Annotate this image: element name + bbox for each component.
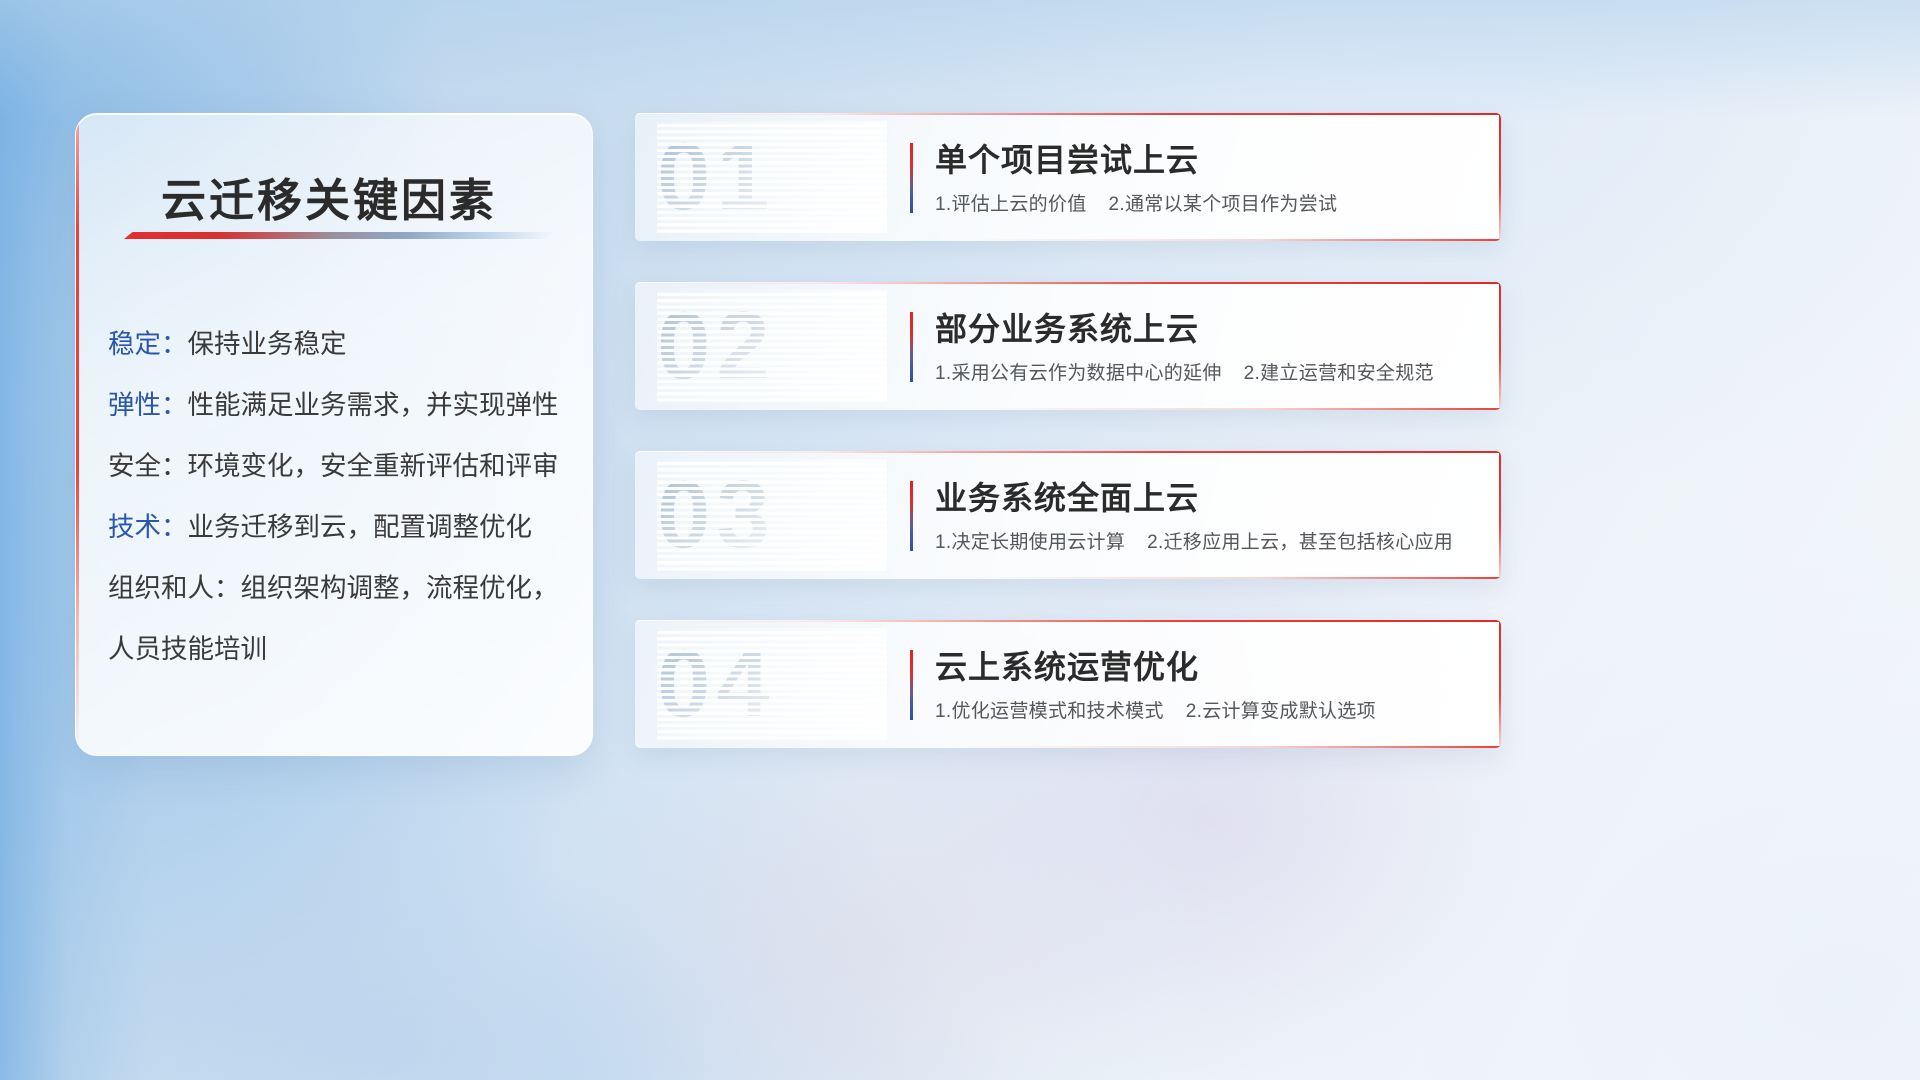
list-item: 安全：环境变化，安全重新评估和评审 <box>108 436 568 497</box>
card-title: 单个项目尝试上云 <box>935 135 1199 181</box>
card-point-1: 1.决定长期使用云计算 <box>935 532 1125 553</box>
card-point-1: 1.优化运营模式和技术模式 <box>935 701 1164 722</box>
card-title: 部分业务系统上云 <box>935 304 1199 350</box>
factor-label: 技术： <box>108 512 188 542</box>
card-title: 业务系统全面上云 <box>935 473 1199 519</box>
card-right-accent-line <box>1499 113 1501 241</box>
list-item: 稳定：保持业务稳定 <box>108 314 568 375</box>
card-point-2: 2.通常以某个项目作为尝试 <box>1109 194 1338 215</box>
list-item: 人员技能培训 <box>108 619 568 680</box>
card-point-2: 2.迁移应用上云，甚至包括核心应用 <box>1147 532 1453 553</box>
factor-text: 业务迁移到云，配置调整优化 <box>188 512 533 542</box>
card-bottom-accent-line <box>964 408 1501 410</box>
card-bottom-accent-line <box>964 746 1501 748</box>
stage-number-badge: 03 <box>657 459 887 571</box>
stage-card[interactable]: 01 单个项目尝试上云 1.评估上云的价值2.通常以某个项目作为尝试 <box>635 113 1501 241</box>
factor-text: 人员技能培训 <box>108 634 267 664</box>
stage-number: 02 <box>657 290 887 402</box>
factor-label: 稳定： <box>108 329 188 359</box>
stage-card[interactable]: 02 部分业务系统上云 1.采用公有云作为数据中心的延伸2.建立运营和安全规范 <box>635 282 1501 410</box>
panel-left-accent-bar <box>76 114 79 755</box>
stage-number: 03 <box>657 459 887 571</box>
key-factors-panel: 云迁移关键因素 稳定：保持业务稳定 弹性：性能满足业务需求，并实现弹性 安全：环… <box>75 113 593 756</box>
title-underline-divider <box>124 232 554 239</box>
card-right-accent-line <box>1499 451 1501 579</box>
stage-number-badge: 01 <box>657 121 887 233</box>
card-point-1: 1.采用公有云作为数据中心的延伸 <box>935 363 1222 384</box>
card-subtitle: 1.采用公有云作为数据中心的延伸2.建立运营和安全规范 <box>935 358 1434 385</box>
card-bottom-accent-line <box>964 577 1501 579</box>
card-top-accent-line <box>635 451 1501 453</box>
card-point-2: 2.云计算变成默认选项 <box>1186 701 1376 722</box>
card-title: 云上系统运营优化 <box>935 642 1199 688</box>
card-point-2: 2.建立运营和安全规范 <box>1244 363 1434 384</box>
card-point-1: 1.评估上云的价值 <box>935 194 1087 215</box>
factor-text: 保持业务稳定 <box>188 329 347 359</box>
factor-label: 安全： <box>108 451 188 481</box>
card-top-accent-line <box>635 113 1501 115</box>
card-top-accent-line <box>635 620 1501 622</box>
card-divider-bar <box>910 650 913 720</box>
stage-number: 04 <box>657 628 887 740</box>
stage-number-badge: 02 <box>657 290 887 402</box>
card-subtitle: 1.评估上云的价值2.通常以某个项目作为尝试 <box>935 189 1337 216</box>
stage-card[interactable]: 04 云上系统运营优化 1.优化运营模式和技术模式2.云计算变成默认选项 <box>635 620 1501 748</box>
list-item: 技术：业务迁移到云，配置调整优化 <box>108 497 568 558</box>
stage-number-badge: 04 <box>657 628 887 740</box>
card-right-accent-line <box>1499 282 1501 410</box>
factor-label: 弹性： <box>108 390 188 420</box>
background-top-streak <box>0 0 1920 120</box>
list-item: 组织和人：组织架构调整，流程优化， <box>108 558 568 619</box>
card-subtitle: 1.决定长期使用云计算2.迁移应用上云，甚至包括核心应用 <box>935 527 1453 554</box>
factor-text: 组织架构调整，流程优化， <box>241 573 559 603</box>
factor-label: 组织和人： <box>108 573 241 603</box>
page-title: 云迁移关键因素 <box>161 164 497 229</box>
factor-text: 性能满足业务需求，并实现弹性 <box>188 390 559 420</box>
factor-text: 环境变化，安全重新评估和评审 <box>188 451 559 481</box>
card-divider-bar <box>910 312 913 382</box>
factor-list: 稳定：保持业务稳定 弹性：性能满足业务需求，并实现弹性 安全：环境变化，安全重新… <box>108 314 568 680</box>
stage-card-list: 01 单个项目尝试上云 1.评估上云的价值2.通常以某个项目作为尝试 02 部分… <box>635 113 1501 789</box>
stage-card[interactable]: 03 业务系统全面上云 1.决定长期使用云计算2.迁移应用上云，甚至包括核心应用 <box>635 451 1501 579</box>
card-divider-bar <box>910 481 913 551</box>
list-item: 弹性：性能满足业务需求，并实现弹性 <box>108 375 568 436</box>
card-top-accent-line <box>635 282 1501 284</box>
stage-number: 01 <box>657 121 887 233</box>
card-bottom-accent-line <box>964 239 1501 241</box>
card-right-accent-line <box>1499 620 1501 748</box>
card-subtitle: 1.优化运营模式和技术模式2.云计算变成默认选项 <box>935 696 1376 723</box>
card-divider-bar <box>910 143 913 213</box>
